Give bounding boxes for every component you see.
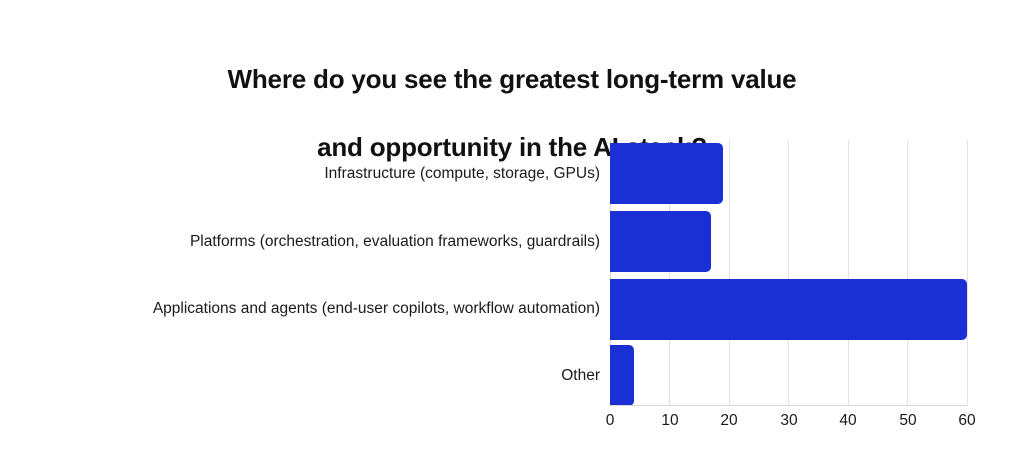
x-tick-label-0: 0 [580, 410, 640, 432]
bar-other [610, 345, 634, 406]
x-axis-tick-labels: 0 10 20 30 40 50 60 [0, 410, 1024, 438]
chart-title-line-1: Where do you see the greatest long-term … [228, 64, 797, 94]
bar-applications-agents [610, 279, 967, 340]
category-label-platforms: Platforms (orchestration, evaluation fra… [20, 232, 600, 252]
gridline-60 [967, 140, 968, 405]
category-label-other: Other [20, 366, 600, 386]
bar-chart: Where do you see the greatest long-term … [0, 0, 1024, 474]
x-tick-label-30: 30 [759, 410, 819, 432]
category-axis-labels: Infrastructure (compute, storage, GPUs) … [20, 140, 600, 415]
bar-series [610, 140, 967, 405]
x-tick-label-60: 60 [937, 410, 997, 432]
bar-platforms [610, 211, 711, 272]
category-label-applications-agents: Applications and agents (end-user copilo… [20, 299, 600, 319]
bar-infrastructure [610, 143, 723, 204]
category-label-infrastructure: Infrastructure (compute, storage, GPUs) [20, 164, 600, 184]
x-tick-label-40: 40 [818, 410, 878, 432]
plot-area [610, 140, 967, 405]
x-tick-label-10: 10 [640, 410, 700, 432]
x-tick-label-20: 20 [699, 410, 759, 432]
x-axis-line [610, 405, 967, 406]
x-tick-label-50: 50 [878, 410, 938, 432]
